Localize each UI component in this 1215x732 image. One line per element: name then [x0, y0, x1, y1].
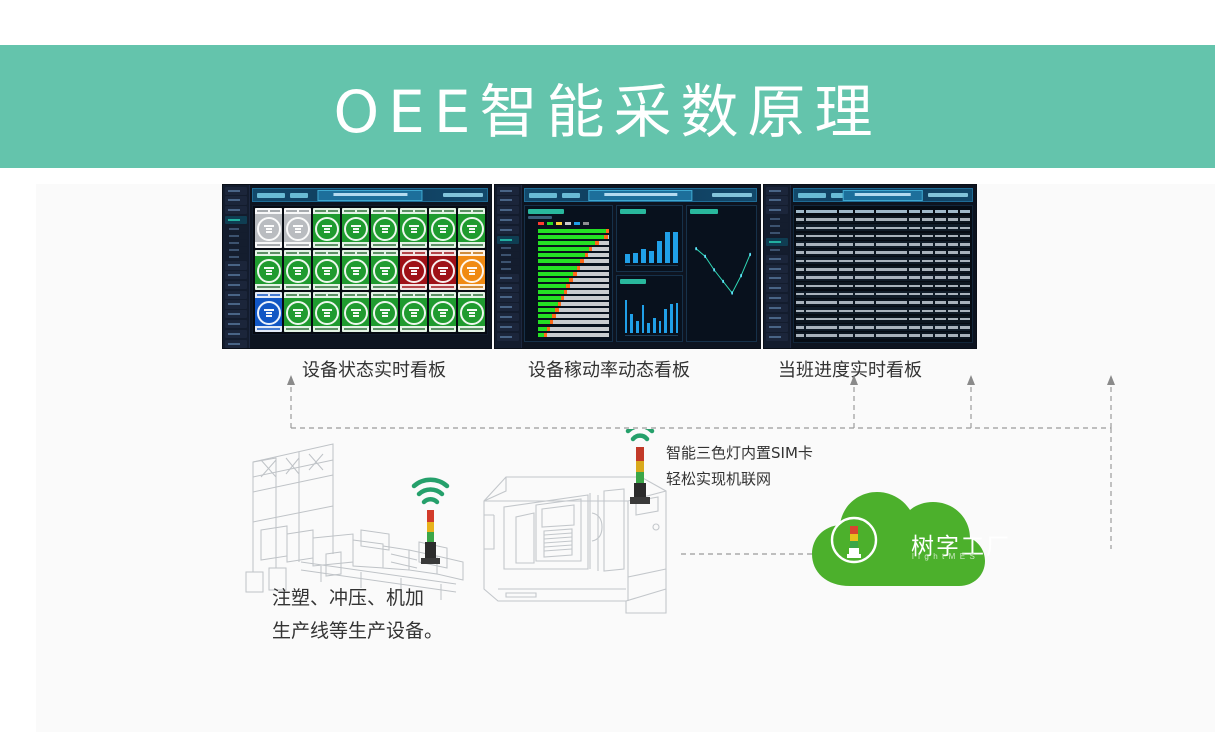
table-cell [948, 243, 958, 246]
shift-filter-dropdown[interactable] [562, 193, 580, 198]
table-cell [796, 235, 804, 238]
table-cell [960, 235, 970, 238]
line-filter-dropdown[interactable] [798, 193, 826, 198]
wifi-icon [414, 480, 447, 502]
poster-root: OEE智能采数原理 [0, 0, 1215, 732]
table-column-header [948, 210, 958, 213]
table-cell [839, 243, 853, 246]
table-cell [935, 260, 946, 263]
dashboard-2-header [524, 188, 756, 202]
sidebar-item[interactable] [766, 206, 788, 214]
vbar-series [625, 224, 679, 263]
table-cell [876, 276, 907, 279]
equipment-status-card[interactable] [458, 208, 485, 248]
dashboard-3-main [790, 185, 976, 348]
dashboard-1-header [252, 188, 488, 202]
equipment-status-card[interactable] [400, 250, 427, 290]
table-cell [922, 285, 933, 288]
refresh-icon[interactable] [290, 193, 308, 198]
sidebar-subitem[interactable] [229, 233, 247, 239]
table-header-row [796, 208, 970, 214]
equipment-status-card[interactable] [342, 292, 369, 332]
dashboard-utilization[interactable] [494, 184, 760, 349]
table-cell [922, 260, 933, 263]
table-cell [909, 227, 920, 230]
hbar-row [538, 272, 608, 276]
table-cell [796, 293, 804, 296]
table-cell [806, 235, 837, 238]
vbar-series [625, 294, 679, 333]
sidebar-item[interactable] [497, 216, 519, 224]
dashboard-2-title-plate [589, 190, 692, 201]
sidebar-item[interactable] [766, 284, 788, 292]
table-cell [839, 326, 853, 329]
vbar [665, 232, 670, 263]
annotation-light-line-1: 智能三色灯内置SIM卡 [666, 440, 813, 466]
sidebar-item[interactable] [225, 300, 247, 308]
table-cell [806, 310, 837, 313]
table-cell [839, 218, 853, 221]
sidebar-item[interactable] [497, 284, 519, 292]
equipment-status-card[interactable] [458, 250, 485, 290]
sidebar-subitem[interactable] [501, 259, 519, 265]
oee-line-svg [695, 226, 751, 333]
table-cell [806, 227, 837, 230]
table-cell [806, 285, 837, 288]
hbar-row [538, 314, 608, 318]
table-cell [960, 310, 970, 313]
table-row[interactable] [796, 324, 970, 331]
production-line-illustration [241, 422, 476, 607]
sidebar-item[interactable] [225, 261, 247, 269]
table-cell [796, 334, 804, 337]
chart-legend [538, 222, 608, 225]
table-cell [855, 301, 875, 304]
sidebar-item[interactable] [225, 187, 247, 195]
table-cell [960, 218, 970, 221]
vbar [633, 253, 638, 263]
hbar-row [538, 259, 608, 263]
equipment-status-card[interactable] [400, 292, 427, 332]
table-cell [806, 251, 837, 254]
sidebar-item[interactable] [225, 320, 247, 328]
table-cell [960, 334, 970, 337]
table-cell [909, 276, 920, 279]
sidebar-subitem[interactable] [229, 254, 247, 260]
dashboard-3-sidebar[interactable] [764, 185, 791, 348]
annotation-equipment-line-2: 生产线等生产设备。 [272, 615, 443, 648]
table-row[interactable] [796, 257, 970, 264]
equipment-status-card[interactable] [400, 208, 427, 248]
table-cell [909, 334, 920, 337]
table-cell [876, 326, 907, 329]
equipment-status-card[interactable] [313, 292, 340, 332]
sidebar-item[interactable] [766, 294, 788, 302]
table-cell [909, 235, 920, 238]
line-filter-dropdown[interactable] [529, 193, 557, 198]
table-cell [796, 285, 804, 288]
table-column-header [922, 210, 933, 213]
equipment-status-card[interactable] [313, 208, 340, 248]
table-cell [806, 301, 837, 304]
chart-downtime-vbar[interactable] [616, 205, 684, 272]
sidebar-item[interactable] [766, 238, 788, 246]
equipment-status-card[interactable] [371, 292, 398, 332]
table-cell [806, 334, 837, 337]
table-cell [909, 310, 920, 313]
table-cell [935, 218, 946, 221]
equipment-status-card[interactable] [342, 250, 369, 290]
table-cell [806, 326, 837, 329]
table-row[interactable] [796, 316, 970, 323]
hbar-row [538, 253, 608, 257]
equipment-status-card[interactable] [342, 208, 369, 248]
vbar [625, 300, 628, 333]
table-cell [909, 243, 920, 246]
table-cell [876, 301, 907, 304]
sidebar-subitem[interactable] [501, 266, 519, 272]
table-cell [935, 301, 946, 304]
table-row[interactable] [796, 249, 970, 256]
title-banner: OEE智能采数原理 [0, 45, 1215, 168]
table-row[interactable] [796, 274, 970, 281]
dashboard-1-sidebar[interactable] [223, 185, 250, 348]
sidebar-item[interactable] [497, 206, 519, 214]
table-cell [876, 268, 907, 271]
equipment-status-card[interactable] [429, 208, 456, 248]
table-row[interactable] [796, 332, 970, 339]
table-cell [935, 285, 946, 288]
sidebar-item[interactable] [225, 271, 247, 279]
sidebar-item[interactable] [766, 274, 788, 282]
equipment-status-card[interactable] [458, 292, 485, 332]
sidebar-item[interactable] [766, 314, 788, 322]
dashboard-1-title-plate [318, 190, 423, 201]
table-cell [960, 268, 970, 271]
progress-table[interactable] [793, 205, 973, 343]
sidebar-item[interactable] [497, 293, 519, 301]
table-cell [935, 235, 946, 238]
chart-title [620, 279, 646, 284]
table-cell [876, 243, 907, 246]
table-cell [855, 235, 875, 238]
table-cell [948, 318, 958, 321]
table-cell [922, 251, 933, 254]
table-cell [796, 260, 804, 263]
table-cell [839, 260, 853, 263]
hbar-row [538, 229, 608, 233]
sidebar-item[interactable] [225, 196, 247, 204]
sidebar-item[interactable] [225, 291, 247, 299]
table-cell [960, 227, 970, 230]
table-cell [806, 260, 837, 263]
vbar [657, 241, 662, 263]
sidebar-item[interactable] [497, 323, 519, 331]
table-cell [909, 260, 920, 263]
clock-display [928, 193, 968, 197]
sidebar-item[interactable] [497, 187, 519, 195]
table-cell [839, 334, 853, 337]
table-cell [922, 243, 933, 246]
sidebar-subitem[interactable] [229, 247, 247, 253]
table-row[interactable] [796, 266, 970, 273]
sidebar-item[interactable] [766, 323, 788, 331]
dashboard-2-main [521, 185, 759, 348]
hbar-row [538, 247, 608, 251]
sidebar-item[interactable] [497, 303, 519, 311]
table-cell [855, 251, 875, 254]
table-cell [922, 301, 933, 304]
table-cell [855, 326, 875, 329]
table-cell [806, 218, 837, 221]
table-cell [922, 227, 933, 230]
table-cell [935, 293, 946, 296]
table-cell [796, 326, 804, 329]
sidebar-item[interactable] [225, 281, 247, 289]
table-cell [839, 227, 853, 230]
sidebar-subitem[interactable] [501, 252, 519, 258]
sidebar-item[interactable] [766, 255, 788, 263]
table-cell [909, 318, 920, 321]
table-cell [839, 301, 853, 304]
table-cell [948, 227, 958, 230]
sidebar-subitem[interactable] [229, 226, 247, 232]
equipment-status-card[interactable] [429, 292, 456, 332]
sidebar-item[interactable] [225, 216, 247, 224]
table-cell [935, 326, 946, 329]
table-cell [948, 293, 958, 296]
sidebar-item[interactable] [225, 330, 247, 338]
table-cell [935, 318, 946, 321]
hbar-row [538, 241, 608, 245]
sidebar-item[interactable] [766, 265, 788, 273]
table-row[interactable] [796, 307, 970, 314]
table-cell [960, 285, 970, 288]
hbar-row [538, 284, 608, 288]
table-cell [960, 318, 970, 321]
table-cell [909, 285, 920, 288]
table-cell [855, 318, 875, 321]
table-cell [960, 260, 970, 263]
dashboard-shift-progress[interactable] [763, 184, 977, 349]
dashboard-2-panels [524, 205, 756, 342]
table-cell [796, 268, 804, 271]
table-cell [839, 268, 853, 271]
table-cell [839, 318, 853, 321]
table-cell [855, 293, 875, 296]
table-cell [909, 268, 920, 271]
vbar [659, 321, 662, 333]
chart-fault-vbar[interactable] [616, 275, 684, 342]
table-cell [796, 276, 804, 279]
vbar [664, 309, 667, 333]
sidebar-item[interactable] [497, 274, 519, 282]
table-cell [839, 251, 853, 254]
table-column-header [855, 210, 875, 213]
table-cell [909, 301, 920, 304]
diagram-canvas: 设备状态实时看板 设备稼动率动态看板 当班进度实时看板 [36, 184, 1215, 732]
table-cell [806, 293, 837, 296]
sidebar-item[interactable] [766, 333, 788, 341]
vbar [636, 321, 639, 333]
table-cell [909, 326, 920, 329]
table-cell [960, 301, 970, 304]
hbar-row [538, 333, 608, 337]
table-cell [876, 310, 907, 313]
equipment-status-card[interactable] [371, 208, 398, 248]
sidebar-subitem[interactable] [229, 240, 247, 246]
table-cell [839, 293, 853, 296]
table-cell [876, 334, 907, 337]
table-cell [796, 251, 804, 254]
chart-title [620, 209, 646, 214]
table-cell [960, 326, 970, 329]
hbar-row [538, 327, 608, 331]
dashboard-2-sidebar[interactable] [495, 185, 522, 348]
sidebar-subitem[interactable] [770, 247, 788, 253]
table-cell [876, 285, 907, 288]
filter-dropdown[interactable] [257, 193, 285, 198]
page-title: OEE智能采数原理 [334, 65, 882, 149]
table-cell [855, 260, 875, 263]
sidebar-item[interactable] [766, 304, 788, 312]
annotation-equipment-line-1: 注塑、冲压、机加 [272, 582, 443, 615]
table-column-header [796, 210, 804, 213]
sidebar-subitem[interactable] [770, 223, 788, 229]
sidebar-subitem[interactable] [770, 216, 788, 222]
table-cell [960, 293, 970, 296]
table-cell [876, 251, 907, 254]
equipment-status-card[interactable] [284, 292, 311, 332]
sidebar-item[interactable] [497, 333, 519, 341]
sidebar-item[interactable] [497, 313, 519, 321]
vbar [641, 249, 646, 263]
sidebar-subitem[interactable] [770, 230, 788, 236]
table-cell [855, 334, 875, 337]
table-cell [876, 235, 907, 238]
table-cell [839, 285, 853, 288]
table-cell [948, 276, 958, 279]
vbar [653, 318, 656, 333]
table-row[interactable] [796, 233, 970, 240]
vbar [625, 254, 630, 263]
equipment-status-card[interactable] [284, 208, 311, 248]
table-cell [876, 318, 907, 321]
sidebar-item[interactable] [497, 196, 519, 204]
hbar-row [538, 308, 608, 312]
equipment-status-card[interactable] [313, 250, 340, 290]
dashboard-3-title-plate [843, 190, 924, 201]
sidebar-item[interactable] [497, 236, 519, 244]
sidebar-item[interactable] [497, 226, 519, 234]
table-cell [909, 218, 920, 221]
table-row[interactable] [796, 241, 970, 248]
sidebar-item[interactable] [225, 340, 247, 348]
sidebar-item[interactable] [225, 310, 247, 318]
equipment-status-card[interactable] [284, 250, 311, 290]
table-cell [960, 251, 970, 254]
caption-dashboard-3: 当班进度实时看板 [778, 356, 922, 382]
table-cell [796, 301, 804, 304]
equipment-status-card[interactable] [371, 250, 398, 290]
table-cell [855, 227, 875, 230]
chart-title [690, 209, 717, 214]
table-cell [806, 268, 837, 271]
table-cell [935, 310, 946, 313]
vbar [647, 323, 650, 333]
dashboard-equipment-status[interactable] [222, 184, 492, 349]
table-cell [922, 218, 933, 221]
table-cell [948, 251, 958, 254]
wifi-icon [628, 429, 652, 439]
equipment-status-card[interactable] [429, 250, 456, 290]
table-column-header [876, 210, 907, 213]
table-cell [876, 260, 907, 263]
sidebar-subitem[interactable] [501, 245, 519, 251]
view-switch-dropdown[interactable] [712, 193, 752, 197]
mid-panel-stack [616, 205, 684, 342]
line-series [695, 226, 751, 333]
table-cell [796, 218, 804, 221]
table-cell [855, 243, 875, 246]
equipment-status-card[interactable] [255, 208, 282, 248]
hbar-row [538, 266, 608, 270]
caption-dashboard-2: 设备稼动率动态看板 [528, 356, 690, 382]
table-row[interactable] [796, 282, 970, 289]
equipment-status-card[interactable] [255, 292, 282, 332]
hbar-series [528, 229, 608, 337]
sidebar-item[interactable] [766, 196, 788, 204]
annotation-equipment: 注塑、冲压、机加 生产线等生产设备。 [272, 582, 443, 648]
table-cell [839, 235, 853, 238]
dashboard-3-header [793, 188, 973, 202]
table-cell [909, 251, 920, 254]
table-cell [935, 276, 946, 279]
table-row[interactable] [796, 224, 970, 231]
table-cell [922, 310, 933, 313]
table-cell [922, 235, 933, 238]
table-cell [855, 218, 875, 221]
vbar [630, 314, 633, 333]
table-column-header [960, 210, 970, 213]
table-row[interactable] [796, 291, 970, 298]
table-cell [806, 318, 837, 321]
vbar [673, 232, 678, 263]
annotation-light-tower: 智能三色灯内置SIM卡 轻松实现机联网 [666, 440, 813, 492]
chart-subtitle [528, 216, 552, 219]
chart-utilization-hbar[interactable] [524, 205, 612, 342]
chart-title [528, 209, 563, 214]
hbar-row [538, 290, 608, 294]
table-cell [796, 310, 804, 313]
vbar [670, 304, 673, 333]
clock-display [443, 193, 483, 197]
x-axis [625, 265, 679, 266]
table-cell [855, 310, 875, 313]
vbar [649, 251, 654, 263]
sidebar-item[interactable] [766, 187, 788, 195]
table-row[interactable] [796, 299, 970, 306]
table-cell [935, 227, 946, 230]
table-row[interactable] [796, 216, 970, 223]
hbar-row [538, 296, 608, 300]
sidebar-item[interactable] [225, 206, 247, 214]
table-cell [935, 243, 946, 246]
equipment-status-card[interactable] [255, 250, 282, 290]
table-cell [796, 227, 804, 230]
table-cell [922, 268, 933, 271]
chart-oee-trend[interactable] [686, 205, 756, 342]
